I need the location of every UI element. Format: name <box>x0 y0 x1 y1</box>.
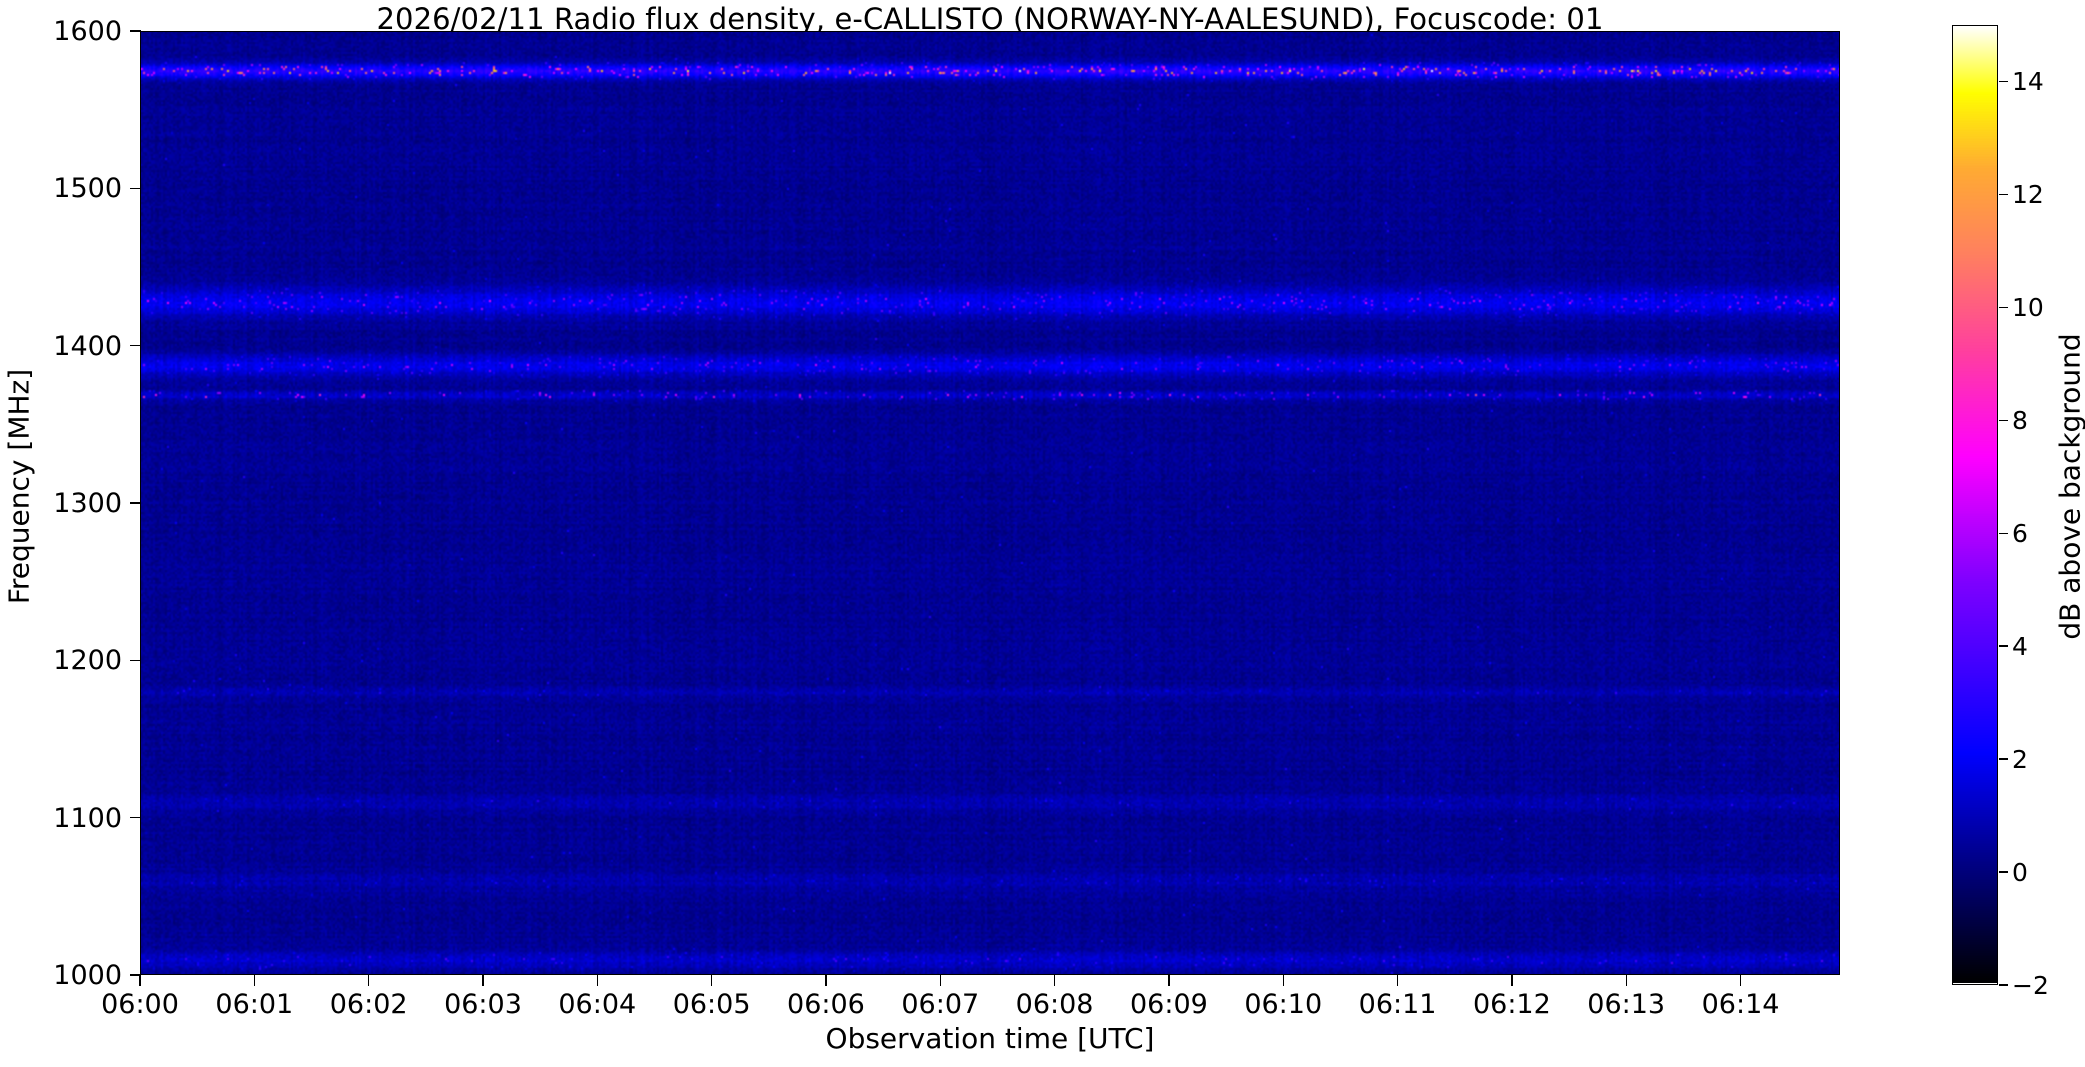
x-tick-mark <box>711 975 712 986</box>
x-tick-mark <box>1511 975 1512 986</box>
x-tick-mark <box>368 975 369 986</box>
colorbar-tick-mark <box>1999 81 2008 82</box>
colorbar <box>1952 25 1998 985</box>
x-tick-mark <box>1626 975 1627 986</box>
y-tick-label: 1600 <box>0 18 122 45</box>
colorbar-tick-label: 2 <box>2012 747 2072 772</box>
x-tick-mark <box>482 975 483 986</box>
figure-canvas: 2026/02/11 Radio flux density, e-CALLIST… <box>0 0 2085 1067</box>
colorbar-tick-mark <box>1999 194 2008 195</box>
x-tick-mark <box>1740 975 1741 986</box>
x-tick-mark <box>825 975 826 986</box>
colorbar-tick-mark <box>1999 533 2008 534</box>
y-tick-label: 1500 <box>0 175 122 202</box>
colorbar-tick-mark <box>1999 984 2008 985</box>
y-tick-label: 1300 <box>0 490 122 517</box>
y-tick-label: 1200 <box>0 647 122 674</box>
y-tick-label: 1000 <box>0 962 122 989</box>
colorbar-tick-mark <box>1999 758 2008 759</box>
x-tick-label: 06:14 <box>1666 990 1816 1020</box>
x-tick-mark <box>1283 975 1284 986</box>
spectrogram-image <box>141 32 1840 975</box>
colorbar-tick-label: 14 <box>2012 69 2072 94</box>
x-tick-mark <box>139 975 140 986</box>
colorbar-tick-mark <box>1999 307 2008 308</box>
x-tick-mark <box>1054 975 1055 986</box>
colorbar-tick-mark <box>1999 420 2008 421</box>
colorbar-tick-mark <box>1999 871 2008 872</box>
y-tick-label: 1100 <box>0 805 122 832</box>
colorbar-tick-label: −2 <box>2012 973 2072 998</box>
x-tick-mark <box>597 975 598 986</box>
colorbar-tick-label: 12 <box>2012 182 2072 207</box>
x-axis-label: Observation time [UTC] <box>140 1022 1840 1055</box>
x-tick-mark <box>1168 975 1169 986</box>
colorbar-label: dB above background <box>2054 272 2085 702</box>
spectrogram-plot-area[interactable] <box>140 31 1840 975</box>
colorbar-gradient <box>1953 26 1997 983</box>
colorbar-tick-mark <box>1999 645 2008 646</box>
x-tick-mark <box>254 975 255 986</box>
y-tick-label: 1400 <box>0 333 122 360</box>
x-tick-mark <box>940 975 941 986</box>
colorbar-tick-label: 0 <box>2012 860 2072 885</box>
x-tick-mark <box>1397 975 1398 986</box>
